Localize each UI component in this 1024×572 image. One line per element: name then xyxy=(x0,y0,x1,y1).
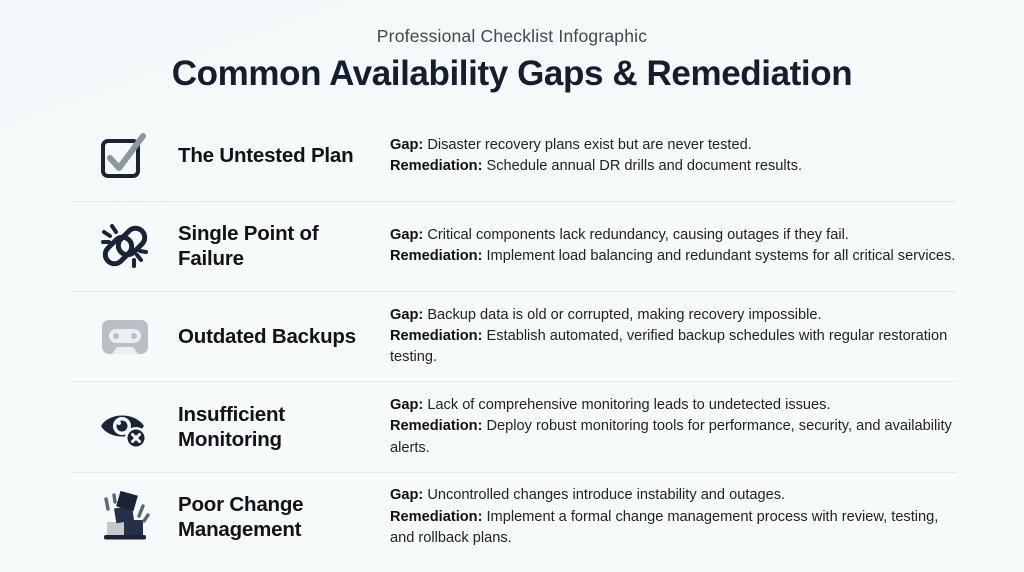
remediation-label: Remediation: xyxy=(390,328,482,344)
list-item: Single Point of Failure Gap: Critical co… xyxy=(72,201,956,291)
gap-line: Gap: Disaster recovery plans exist but a… xyxy=(390,135,956,156)
remediation-label: Remediation: xyxy=(390,158,482,174)
list-item-heading: The Untested Plan xyxy=(178,143,390,168)
gap-line: Gap: Lack of comprehensive monitoring le… xyxy=(390,395,956,416)
remediation-text: Schedule annual DR drills and document r… xyxy=(487,158,803,174)
gap-text: Backup data is old or corrupted, making … xyxy=(427,307,821,323)
remediation-line: Remediation: Schedule annual DR drills a… xyxy=(390,156,956,177)
gap-label: Gap: xyxy=(390,227,423,243)
remediation-label: Remediation: xyxy=(390,248,482,264)
eye-with-error-icon xyxy=(72,399,178,455)
list-item-body: Gap: Uncontrolled changes introduce inst… xyxy=(390,485,956,549)
remediation-line: Remediation: Implement load balancing an… xyxy=(390,246,956,267)
checklist: The Untested Plan Gap: Disaster recovery… xyxy=(34,111,990,562)
remediation-label: Remediation: xyxy=(390,418,482,434)
list-item: Poor Change Management Gap: Uncontrolled… xyxy=(72,472,956,562)
checkbox-check-icon xyxy=(72,128,178,184)
remediation-line: Remediation: Implement a formal change m… xyxy=(390,507,956,550)
gap-label: Gap: xyxy=(390,137,423,153)
remediation-line: Remediation: Deploy robust monitoring to… xyxy=(390,416,956,459)
falling-blocks-icon xyxy=(72,489,178,545)
gap-line: Gap: Backup data is old or corrupted, ma… xyxy=(390,305,956,326)
gap-label: Gap: xyxy=(390,307,423,323)
list-item-body: Gap: Lack of comprehensive monitoring le… xyxy=(390,395,956,459)
list-item-heading: Outdated Backups xyxy=(178,324,390,349)
gap-line: Gap: Critical components lack redundancy… xyxy=(390,225,956,246)
list-item-heading: Insufficient Monitoring xyxy=(178,402,390,452)
header: Professional Checklist Infographic Commo… xyxy=(34,26,990,94)
gap-text: Disaster recovery plans exist but are ne… xyxy=(427,137,751,153)
list-item-heading: Poor Change Management xyxy=(178,492,390,542)
infographic-page: Professional Checklist Infographic Commo… xyxy=(0,0,1024,572)
list-item: Insufficient Monitoring Gap: Lack of com… xyxy=(72,381,956,471)
list-item: The Untested Plan Gap: Disaster recovery… xyxy=(72,111,956,200)
page-title: Common Availability Gaps & Remediation xyxy=(34,54,990,94)
gap-text: Uncontrolled changes introduce instabili… xyxy=(427,487,785,503)
cassette-tape-icon xyxy=(72,309,178,365)
list-item: Outdated Backups Gap: Backup data is old… xyxy=(72,291,956,381)
list-item-body: Gap: Disaster recovery plans exist but a… xyxy=(390,135,956,178)
list-item-heading: Single Point of Failure xyxy=(178,221,390,271)
list-item-body: Gap: Backup data is old or corrupted, ma… xyxy=(390,305,956,369)
gap-line: Gap: Uncontrolled changes introduce inst… xyxy=(390,485,956,506)
gap-text: Lack of comprehensive monitoring leads t… xyxy=(427,397,830,413)
remediation-line: Remediation: Establish automated, verifi… xyxy=(390,326,956,369)
list-item-body: Gap: Critical components lack redundancy… xyxy=(390,225,956,268)
remediation-text: Implement load balancing and redundant s… xyxy=(487,248,956,264)
subtitle: Professional Checklist Infographic xyxy=(34,26,990,47)
gap-label: Gap: xyxy=(390,397,423,413)
gap-label: Gap: xyxy=(390,487,423,503)
remediation-label: Remediation: xyxy=(390,509,482,525)
gap-text: Critical components lack redundancy, cau… xyxy=(427,227,849,243)
broken-chain-link-icon xyxy=(72,218,178,274)
